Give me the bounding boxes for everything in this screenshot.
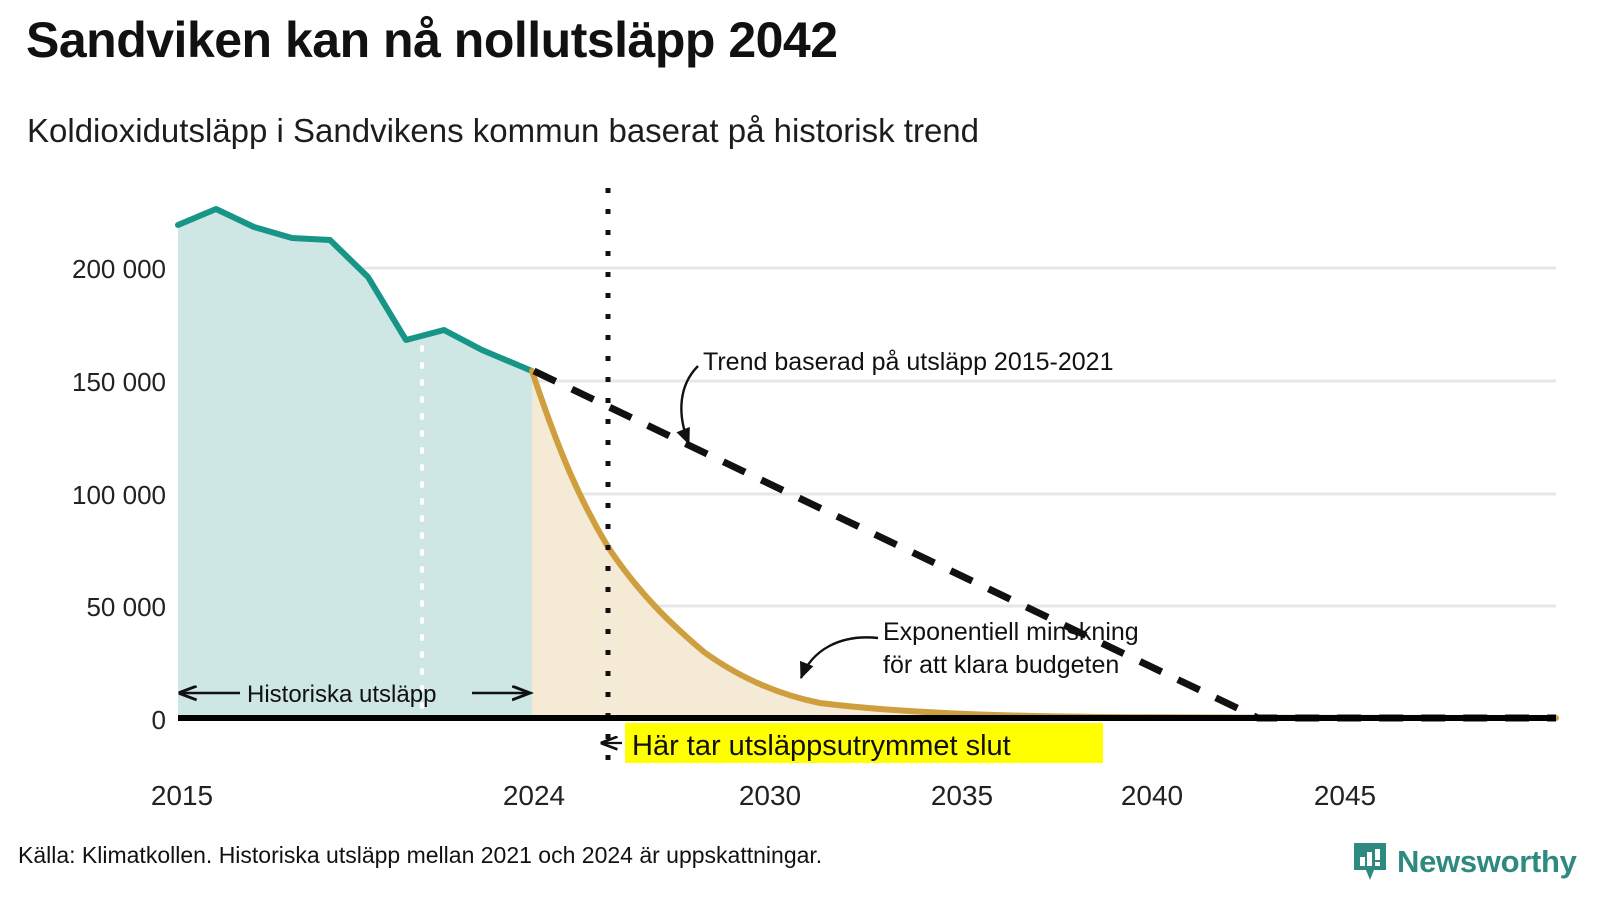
source-note: Källa: Klimatkollen. Historiska utsläpp …: [18, 842, 822, 869]
y-tick-0: 0: [152, 705, 166, 735]
historical-area: [178, 209, 532, 718]
x-tick-2015: 2015: [151, 780, 213, 811]
x-axis-labels: 2015 2024 2030 2035 2040 2045: [151, 780, 1376, 811]
y-tick-150000: 150 000: [72, 367, 166, 397]
x-tick-2024: 2024: [503, 780, 565, 811]
newsworthy-wordmark: Newsworthy: [1397, 844, 1577, 880]
annotation-exponential-line1: Exponentiell minskning: [883, 618, 1139, 646]
annotation-trend: Trend baserad på utsläpp 2015-2021: [681, 348, 1113, 444]
annotation-budget-end-label: Här tar utsläppsutrymmet slut: [632, 730, 1011, 762]
x-tick-2030: 2030: [739, 780, 801, 811]
x-tick-2045: 2045: [1314, 780, 1376, 811]
x-tick-2040: 2040: [1121, 780, 1183, 811]
annotation-exponential: Exponentiell minskning för att klara bud…: [801, 618, 1139, 679]
y-axis-labels: 200 000 150 000 100 000 50 000 0: [72, 254, 166, 735]
bar-chart-speech-bubble-icon: [1352, 841, 1388, 883]
annotation-exponential-line2: för att klara budgeten: [883, 651, 1119, 679]
x-tick-2035: 2035: [931, 780, 993, 811]
y-tick-50000: 50 000: [86, 592, 166, 622]
annotation-trend-label: Trend baserad på utsläpp 2015-2021: [703, 348, 1114, 376]
annotation-historical-span-label: Historiska utsläpp: [247, 681, 436, 708]
annotation-budget-end: Här tar utsläppsutrymmet slut: [604, 723, 1103, 763]
chart-page: Sandviken kan nå nollutsläpp 2042 Koldio…: [0, 0, 1600, 900]
y-tick-100000: 100 000: [72, 480, 166, 510]
emissions-chart: 200 000 150 000 100 000 50 000 0 Trend b…: [0, 0, 1600, 830]
newsworthy-logo: Newsworthy: [1352, 841, 1577, 883]
y-tick-200000: 200 000: [72, 254, 166, 284]
